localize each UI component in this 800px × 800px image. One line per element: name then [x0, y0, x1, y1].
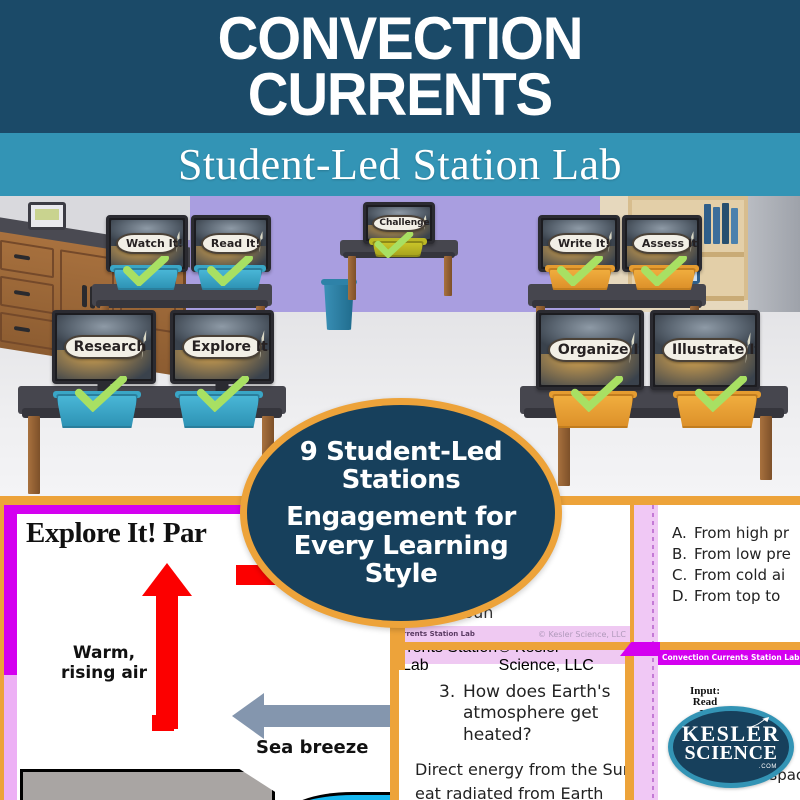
answer-option-d: D.From top to — [672, 587, 780, 605]
answer-option-c: C.From cold ai — [672, 566, 785, 584]
poster-subtitle-band: Student-Led Station Lab — [0, 133, 800, 196]
option-text-a: From high pr — [694, 524, 789, 542]
dashed-cut-line — [652, 650, 654, 800]
kesler-science-logo: KESLER SCIENCE .COM — [668, 706, 794, 788]
badge-line-2: Engagement for Every Learning Style — [247, 503, 555, 587]
books — [704, 202, 746, 244]
red-arrow-shaft — [156, 589, 178, 729]
worksheet-left-border — [4, 505, 17, 675]
worksheet-footer-band: rrents Station Lab © Kesler Science, LLC — [399, 650, 625, 664]
option-letter-c: C. — [672, 566, 694, 584]
poster-title-line1: CONVECTION — [218, 11, 583, 66]
logo-line-2: SCIENCE — [684, 744, 777, 763]
answer-line-2: eat radiated from Earth — [415, 784, 603, 800]
bin-assess-it[interactable] — [632, 268, 696, 290]
question-text: How does Earth's atmosphere get heated? — [463, 682, 618, 746]
red-chip-2 — [152, 715, 174, 731]
label-warm-rising-air: Warm, rising air — [56, 643, 152, 683]
worksheet-header-band: Convection Currents Station Lab — [658, 650, 800, 665]
option-letter-a: A. — [672, 524, 694, 542]
option-text-c: From cold ai — [694, 566, 785, 584]
answer-line-1: Direct energy from the Sun — [415, 760, 625, 779]
bin-explore-it[interactable] — [178, 394, 260, 428]
bin-challenge-it[interactable] — [372, 241, 424, 257]
bin-read-it[interactable] — [197, 268, 263, 290]
option-text-d: From top to — [694, 587, 780, 605]
gray-arrow-shaft — [261, 705, 390, 727]
station-label-research-it: Research It! — [74, 340, 135, 354]
sea-shape — [282, 792, 390, 800]
poster-root: CONVECTION CURRENTS Student-Led Station … — [0, 0, 800, 800]
station-label-challenge-it: Challenge It! — [379, 219, 418, 228]
rocket-icon — [745, 717, 771, 729]
worksheet-header-text: Convection Currents Station Lab — [662, 653, 800, 662]
station-label-organize-it: Organize It! — [558, 343, 622, 357]
option-letter-d: D. — [672, 587, 694, 605]
station-label-watch-it: Watch It! — [126, 238, 168, 249]
label-sea-breeze: Sea breeze — [256, 737, 368, 758]
monitor-explore-it[interactable]: Explore It! — [170, 310, 274, 384]
footer-left-text: rrents Station Lab — [403, 630, 475, 638]
worksheet-top-right[interactable]: A.From high pr B.From low pre C.From col… — [634, 505, 800, 642]
footer-left-text: rrents Station Lab — [402, 650, 499, 675]
pink-margin-band — [634, 505, 658, 642]
lab-sensor-device — [28, 202, 66, 230]
logo-tld: .COM — [759, 764, 777, 770]
station-label-illustrate-it: Illustrate It! — [672, 343, 738, 357]
poster-subtitle: Student-Led Station Lab — [178, 143, 622, 187]
option-text-b: From low pre — [694, 545, 791, 563]
station-label-read-it: Read It! — [211, 238, 251, 249]
land-mass-shape — [20, 769, 275, 800]
footer-copyright: © Kesler Science, LLC — [538, 630, 626, 639]
answer-option-b: B.From low pre — [672, 545, 791, 563]
worksheet-title: Explore It! Par — [26, 517, 206, 550]
poster-header: CONVECTION CURRENTS — [0, 0, 800, 133]
badge-line-1: 9 Student-Led Stations — [247, 438, 555, 494]
bin-write-it[interactable] — [548, 268, 612, 290]
bin-watch-it[interactable] — [113, 268, 179, 290]
worksheet-left-border-light — [4, 675, 17, 800]
starburst-badge — [399, 674, 429, 736]
worksheet-bottom-middle[interactable]: rrents Station Lab © Kesler Science, LLC… — [399, 650, 625, 800]
pink-margin-band — [634, 650, 658, 800]
option-letter-b: B. — [672, 545, 694, 563]
station-label-write-it: Write It! — [558, 238, 600, 249]
callout-badge: 9 Student-Led Stations Engagement for Ev… — [240, 398, 562, 628]
monitor-research-it[interactable]: Research It! — [52, 310, 156, 384]
worksheet-footer: rrents Station Lab © Kesler Science, LLC — [399, 626, 630, 642]
poster-title-line2: CURRENTS — [248, 67, 552, 122]
vertical-divider-2 — [625, 647, 634, 800]
station-label-assess-it: Assess It! — [642, 238, 682, 249]
question-number: 3. — [439, 682, 455, 703]
wall-gray — [748, 196, 800, 316]
bin-research-it[interactable] — [56, 394, 138, 428]
gray-arrow-head — [232, 693, 264, 739]
bin-illustrate-it[interactable] — [676, 394, 758, 428]
footer-copyright: © Kesler Science, LLC — [499, 650, 622, 675]
station-label-explore-it: Explore It! — [192, 340, 253, 354]
answer-option-a: A.From high pr — [672, 524, 789, 542]
dashed-cut-line — [652, 505, 654, 642]
bin-organize-it[interactable] — [552, 394, 634, 428]
horizontal-divider — [399, 642, 800, 650]
